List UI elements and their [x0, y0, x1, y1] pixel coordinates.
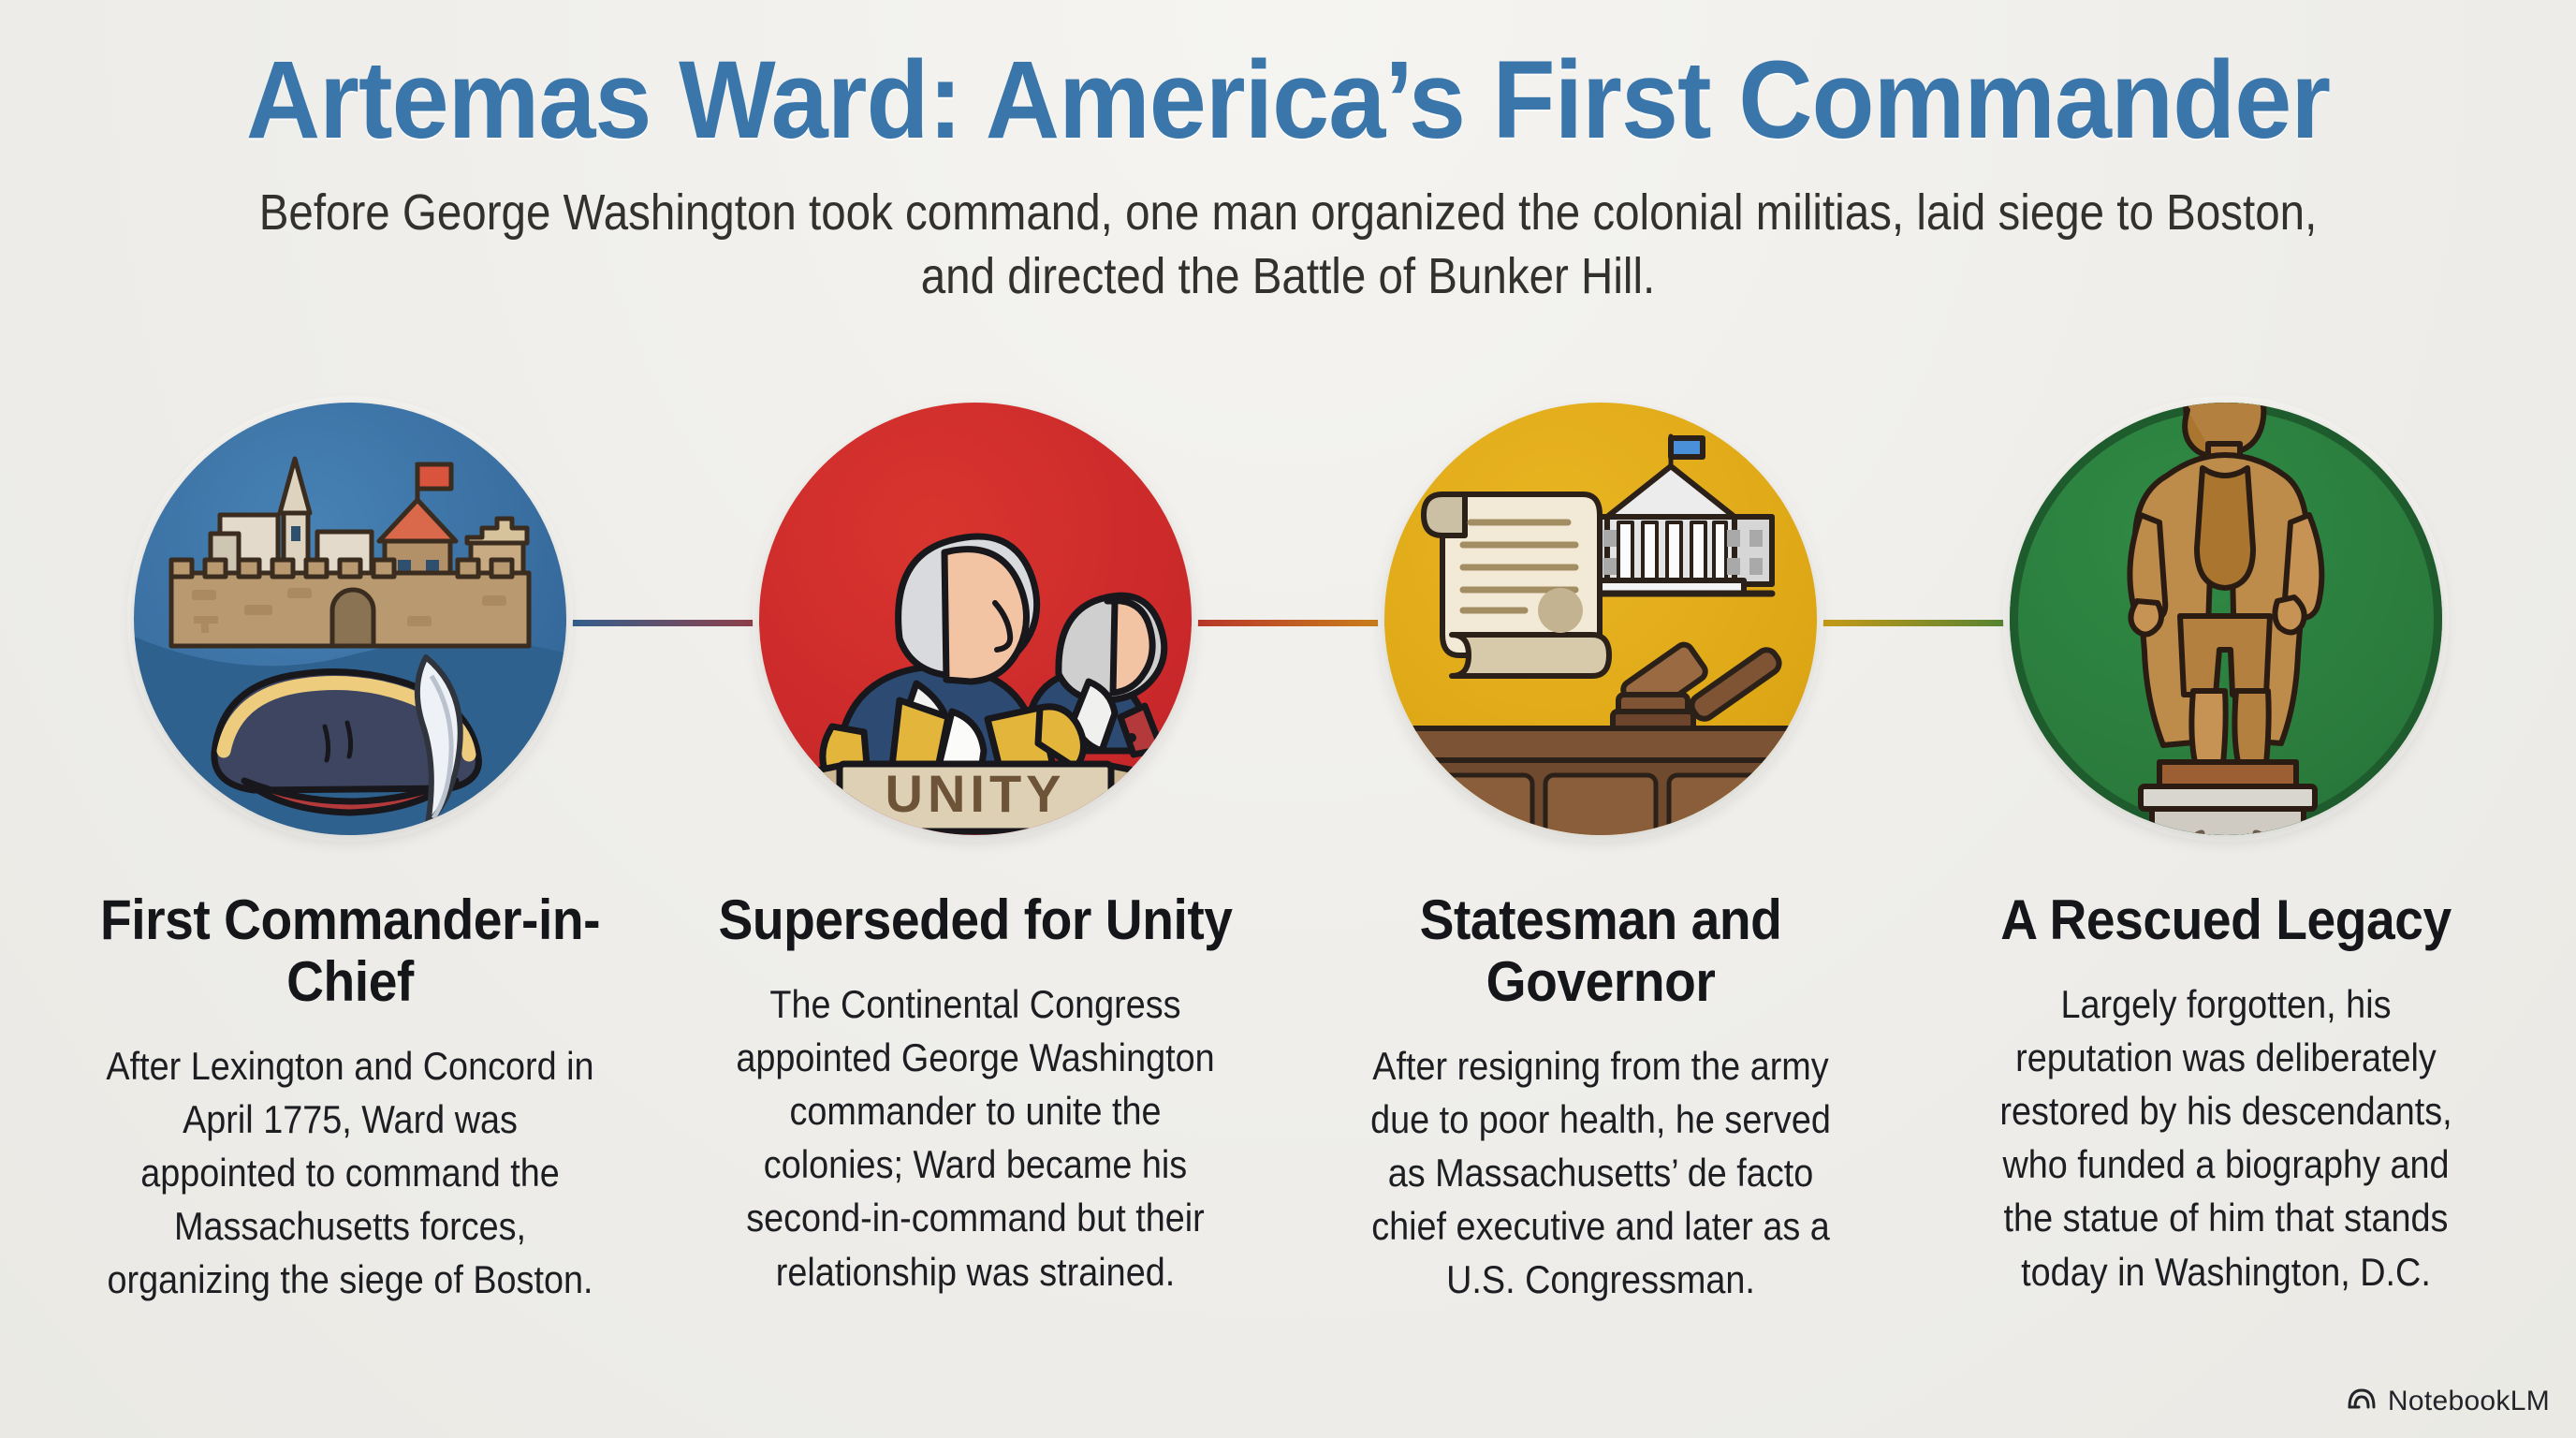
step-1-heading: First Commander-in-Chief: [83, 889, 617, 1013]
step-4-icon-wrap: [1936, 403, 2516, 835]
step-2-heading: Superseded for Unity: [709, 889, 1242, 951]
step-1-icon-wrap: [60, 403, 640, 835]
scroll-capitol-gavel-desk-icon: [1384, 403, 1817, 835]
timeline: UNITY: [0, 403, 2576, 880]
page-subtitle: Before George Washington took command, o…: [258, 181, 2318, 308]
notebooklm-label: NotebookLM: [2388, 1386, 2550, 1417]
step-card-4: A Rescued Legacy Largely forgotten, his …: [1936, 889, 2516, 1299]
step-4-heading: A Rescued Legacy: [1959, 889, 2493, 951]
step-card-2: Superseded for Unity The Continental Con…: [685, 889, 1266, 1299]
step-3-heading: Statesman and Governor: [1334, 889, 1867, 1013]
page-title: Artemas Ward: America’s First Commander: [90, 43, 2485, 158]
icon-circles: UNITY: [0, 403, 2576, 880]
step-2-body: The Continental Congress appointed Georg…: [714, 977, 1237, 1299]
poster-header: Artemas Ward: America’s First Commander …: [0, 43, 2576, 308]
unity-banner-label: UNITY: [885, 764, 1066, 823]
bronze-statue-pedestal-laurel-icon: [2010, 403, 2442, 835]
notebooklm-watermark: NotebookLM: [2347, 1386, 2550, 1417]
step-1-body: After Lexington and Concord in April 177…: [89, 1039, 611, 1307]
step-4-body: Largely forgotten, his reputation was de…: [1965, 977, 2487, 1299]
step-cards: First Commander-in-Chief After Lexington…: [0, 889, 2576, 1307]
notebooklm-arc-icon: [2347, 1386, 2377, 1417]
infographic-poster: Artemas Ward: America’s First Commander …: [0, 0, 2576, 1438]
step-2-icon-wrap: UNITY: [685, 403, 1266, 835]
two-colonial-busts-unity-banner-icon: UNITY: [759, 403, 1192, 835]
step-3-icon-wrap: [1310, 403, 1891, 835]
step-card-1: First Commander-in-Chief After Lexington…: [60, 889, 640, 1307]
step-card-3: Statesman and Governor After resigning f…: [1310, 889, 1891, 1307]
step-3-body: After resigning from the army due to poo…: [1339, 1039, 1862, 1307]
fortified-city-tricorn-hat-quill-icon: [134, 403, 566, 835]
